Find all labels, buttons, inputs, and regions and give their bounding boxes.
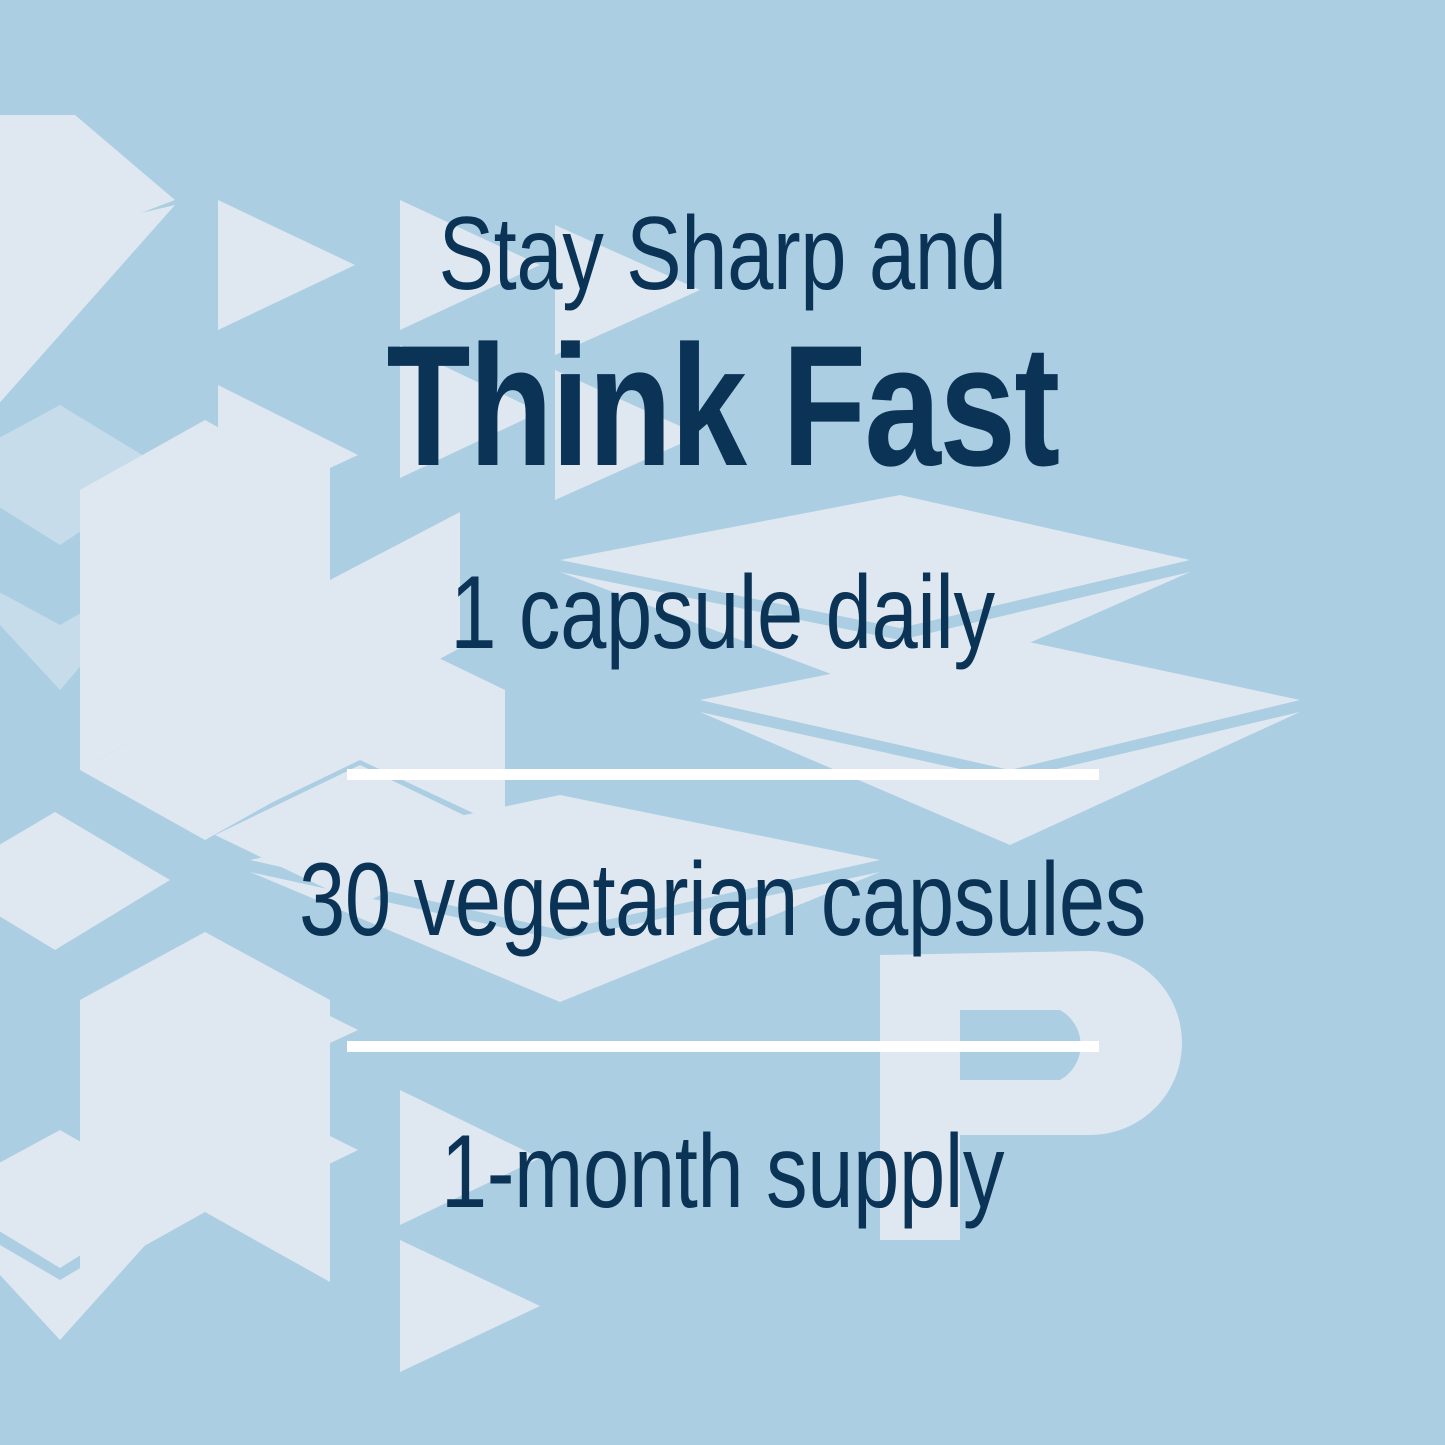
eyebrow-heading: Stay Sharp and: [145, 198, 1301, 310]
text-stack: Stay Sharp and Think Fast 1 capsule dail…: [0, 0, 1445, 1445]
spec-count: 30 vegetarian capsules: [145, 844, 1301, 956]
page-title: Think Fast: [145, 316, 1301, 496]
product-feature-graphic: Stay Sharp and Think Fast 1 capsule dail…: [0, 0, 1445, 1445]
divider-1: [347, 769, 1099, 780]
divider-2: [347, 1041, 1099, 1052]
spec-dosage: 1 capsule daily: [145, 557, 1301, 669]
spec-supply: 1-month supply: [145, 1116, 1301, 1228]
